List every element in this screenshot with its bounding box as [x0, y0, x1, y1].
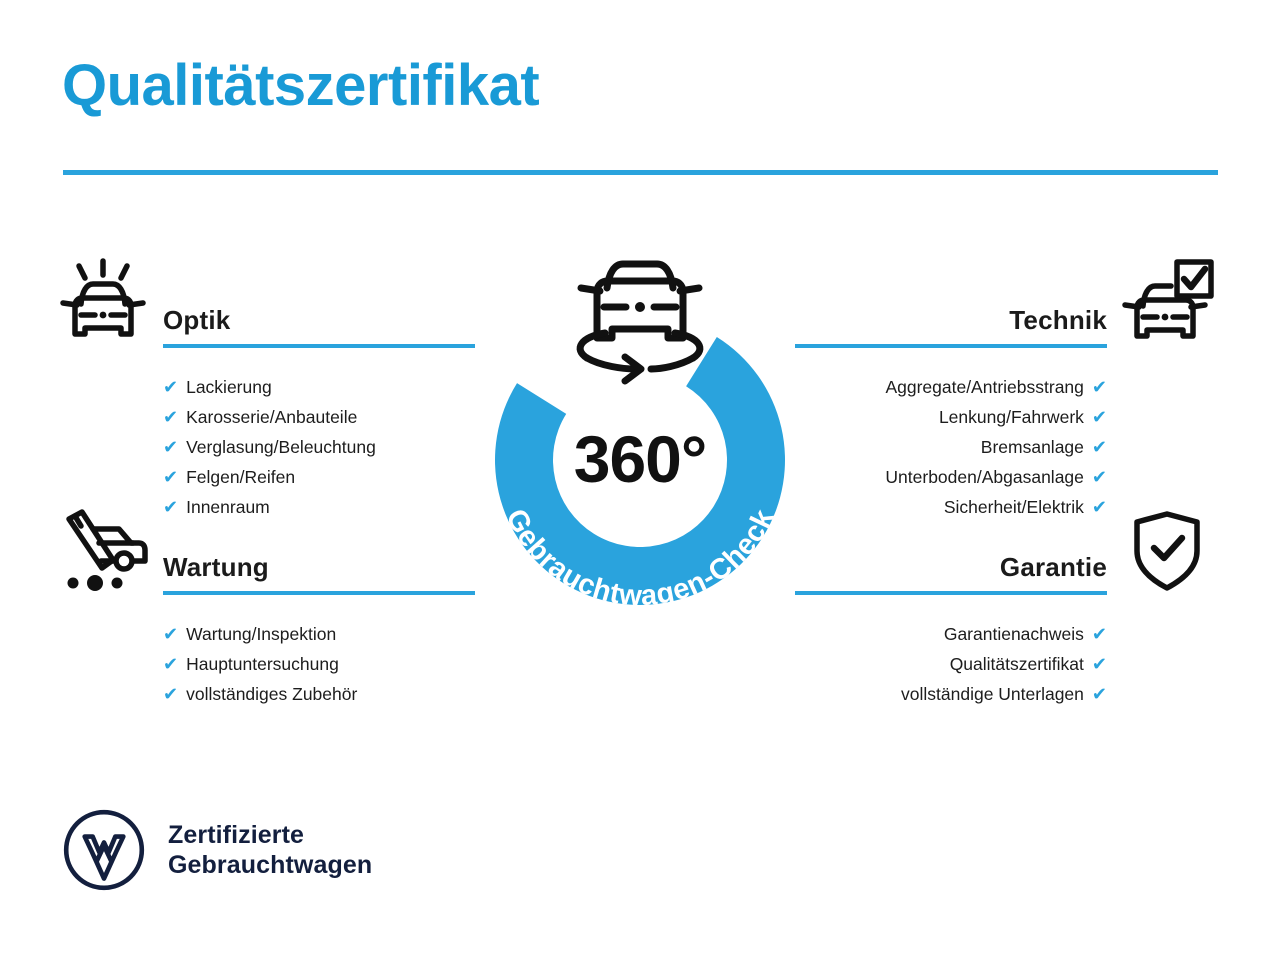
- car-rotate-360-icon: [580, 264, 700, 381]
- section-heading-block: Optik: [163, 306, 475, 348]
- list-item-label: Aggregate/Antriebsstrang: [885, 372, 1083, 402]
- section-header: Wartung: [55, 505, 475, 601]
- check-icon: ✔: [163, 649, 178, 679]
- list-item: ✔vollständiges Zubehör: [163, 679, 475, 709]
- section-header: Technik: [795, 258, 1215, 354]
- check-icon: ✔: [163, 372, 178, 402]
- section-technik: Technik Aggregate/Antriebsstrang✔ Lenkun…: [795, 258, 1215, 522]
- list-item: ✔Hauptuntersuchung: [163, 649, 475, 679]
- list-item-label: Karosserie/Anbauteile: [186, 402, 357, 432]
- list-item-label: Lenkung/Fahrwerk: [939, 402, 1084, 432]
- check-icon: ✔: [1092, 619, 1107, 649]
- check-icon: ✔: [1092, 432, 1107, 462]
- footer-line-1: Zertifizierte: [168, 820, 372, 850]
- list-item-label: Verglasung/Beleuchtung: [186, 432, 376, 462]
- section-title: Technik: [795, 306, 1107, 335]
- footer-text: Zertifizierte Gebrauchtwagen: [168, 820, 372, 880]
- check-icon: ✔: [1092, 679, 1107, 709]
- check-icon: ✔: [163, 619, 178, 649]
- section-optik: Optik ✔Lackierung ✔Karosserie/Anbauteile…: [55, 258, 475, 522]
- check-icon: ✔: [1092, 462, 1107, 492]
- list-item: ✔Wartung/Inspektion: [163, 619, 475, 649]
- checklist-optik: ✔Lackierung ✔Karosserie/Anbauteile ✔Verg…: [163, 372, 475, 522]
- checklist-wartung: ✔Wartung/Inspektion ✔Hauptuntersuchung ✔…: [163, 619, 475, 709]
- list-item-label: Unterboden/Abgasanlage: [885, 462, 1084, 492]
- list-item-label: vollständige Unterlagen: [901, 679, 1084, 709]
- section-title: Garantie: [795, 553, 1107, 582]
- footer-brand: Zertifizierte Gebrauchtwagen: [62, 808, 372, 892]
- list-item: Lenkung/Fahrwerk✔: [795, 402, 1107, 432]
- car-checkbox-icon: [1119, 258, 1215, 350]
- section-header: Optik: [55, 258, 475, 354]
- list-item-label: Wartung/Inspektion: [186, 619, 336, 649]
- list-item: ✔Felgen/Reifen: [163, 462, 475, 492]
- checklist-garantie: Garantienachweis✔ Qualitätszertifikat✔ v…: [795, 619, 1107, 709]
- title-divider: [63, 170, 1218, 175]
- page-title: Qualitätszertifikat: [62, 56, 539, 117]
- list-item: Qualitätszertifikat✔: [795, 649, 1107, 679]
- check-icon: ✔: [163, 402, 178, 432]
- list-item: Bremsanlage✔: [795, 432, 1107, 462]
- check-icon: ✔: [1092, 402, 1107, 432]
- list-item: ✔Karosserie/Anbauteile: [163, 402, 475, 432]
- list-item-label: Qualitätszertifikat: [950, 649, 1084, 679]
- section-title: Wartung: [163, 553, 475, 582]
- car-shine-icon: [55, 258, 151, 350]
- list-item: Aggregate/Antriebsstrang✔: [795, 372, 1107, 402]
- list-item-label: Lackierung: [186, 372, 272, 402]
- section-divider: [795, 591, 1107, 595]
- section-heading-block: Technik: [795, 306, 1107, 348]
- list-item: vollständige Unterlagen✔: [795, 679, 1107, 709]
- list-item-label: Felgen/Reifen: [186, 462, 295, 492]
- check-icon: ✔: [163, 679, 178, 709]
- list-item-label: vollständiges Zubehör: [186, 679, 357, 709]
- list-item-label: Garantienachweis: [944, 619, 1084, 649]
- vw-logo-icon: [62, 808, 146, 892]
- list-item: ✔Lackierung: [163, 372, 475, 402]
- list-item-label: Hauptuntersuchung: [186, 649, 339, 679]
- list-item: Unterboden/Abgasanlage✔: [795, 462, 1107, 492]
- footer-line-2: Gebrauchtwagen: [168, 850, 372, 880]
- check-icon: ✔: [1092, 372, 1107, 402]
- badge-360-gebrauchtwagen-check: Gebrauchtwagen-Check 360°: [455, 245, 825, 645]
- checklist-technik: Aggregate/Antriebsstrang✔ Lenkung/Fahrwe…: [795, 372, 1107, 522]
- section-header: Garantie: [795, 505, 1215, 601]
- list-item: ✔Verglasung/Beleuchtung: [163, 432, 475, 462]
- section-heading-block: Garantie: [795, 553, 1107, 595]
- list-item: Garantienachweis✔: [795, 619, 1107, 649]
- badge-value: 360°: [455, 421, 825, 497]
- section-title: Optik: [163, 306, 475, 335]
- check-icon: ✔: [163, 432, 178, 462]
- section-divider: [163, 344, 475, 348]
- section-divider: [795, 344, 1107, 348]
- check-icon: ✔: [1092, 649, 1107, 679]
- section-wartung: Wartung ✔Wartung/Inspektion ✔Hauptunters…: [55, 505, 475, 709]
- shield-check-icon: [1119, 505, 1215, 597]
- check-icon: ✔: [163, 462, 178, 492]
- section-garantie: Garantie Garantienachweis✔ Qualitätszert…: [795, 505, 1215, 709]
- section-divider: [163, 591, 475, 595]
- list-item-label: Bremsanlage: [981, 432, 1084, 462]
- section-heading-block: Wartung: [163, 553, 475, 595]
- car-service-pencil-icon: [55, 505, 151, 597]
